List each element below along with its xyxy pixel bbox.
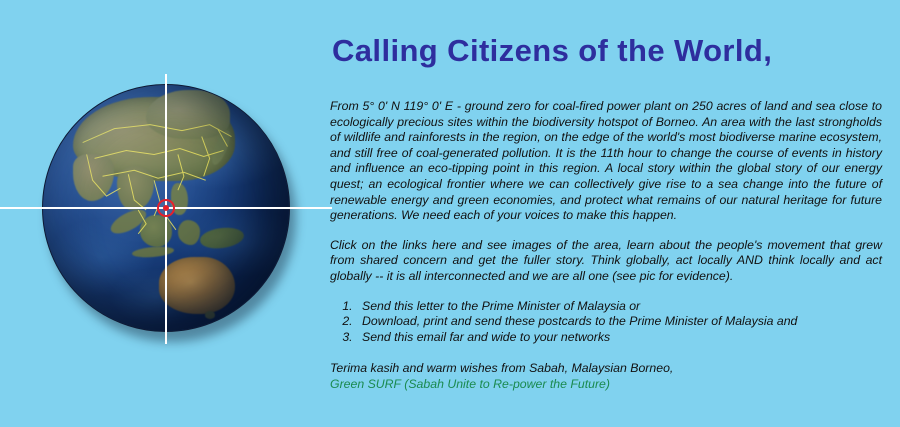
signoff-block: Terima kasih and warm wishes from Sabah,… (330, 360, 882, 392)
globe-panel (0, 0, 320, 427)
text-column: Calling Citizens of the World, From 5° 0… (328, 0, 884, 427)
signoff-thanks: Terima kasih and warm wishes from Sabah,… (330, 360, 882, 376)
list-item[interactable]: Download, print and send these postcards… (356, 314, 882, 330)
location-marker-dot-icon (163, 205, 169, 211)
page-title: Calling Citizens of the World, (332, 33, 772, 69)
list-item[interactable]: Send this letter to the Prime Minister o… (356, 299, 882, 315)
list-item[interactable]: Send this email far and wide to your net… (356, 330, 882, 346)
poster-canvas: Calling Citizens of the World, From 5° 0… (0, 0, 900, 427)
paragraph-call-to-action: Click on the links here and see images o… (330, 238, 882, 285)
paragraph-intro: From 5° 0' N 119° 0' E - ground zero for… (330, 99, 882, 224)
body-copy: From 5° 0' N 119° 0' E - ground zero for… (330, 99, 882, 392)
action-list: Send this letter to the Prime Minister o… (330, 299, 882, 346)
globe-image (42, 84, 290, 332)
signoff-organisation: Green SURF (Sabah Unite to Re-power the … (330, 376, 882, 392)
